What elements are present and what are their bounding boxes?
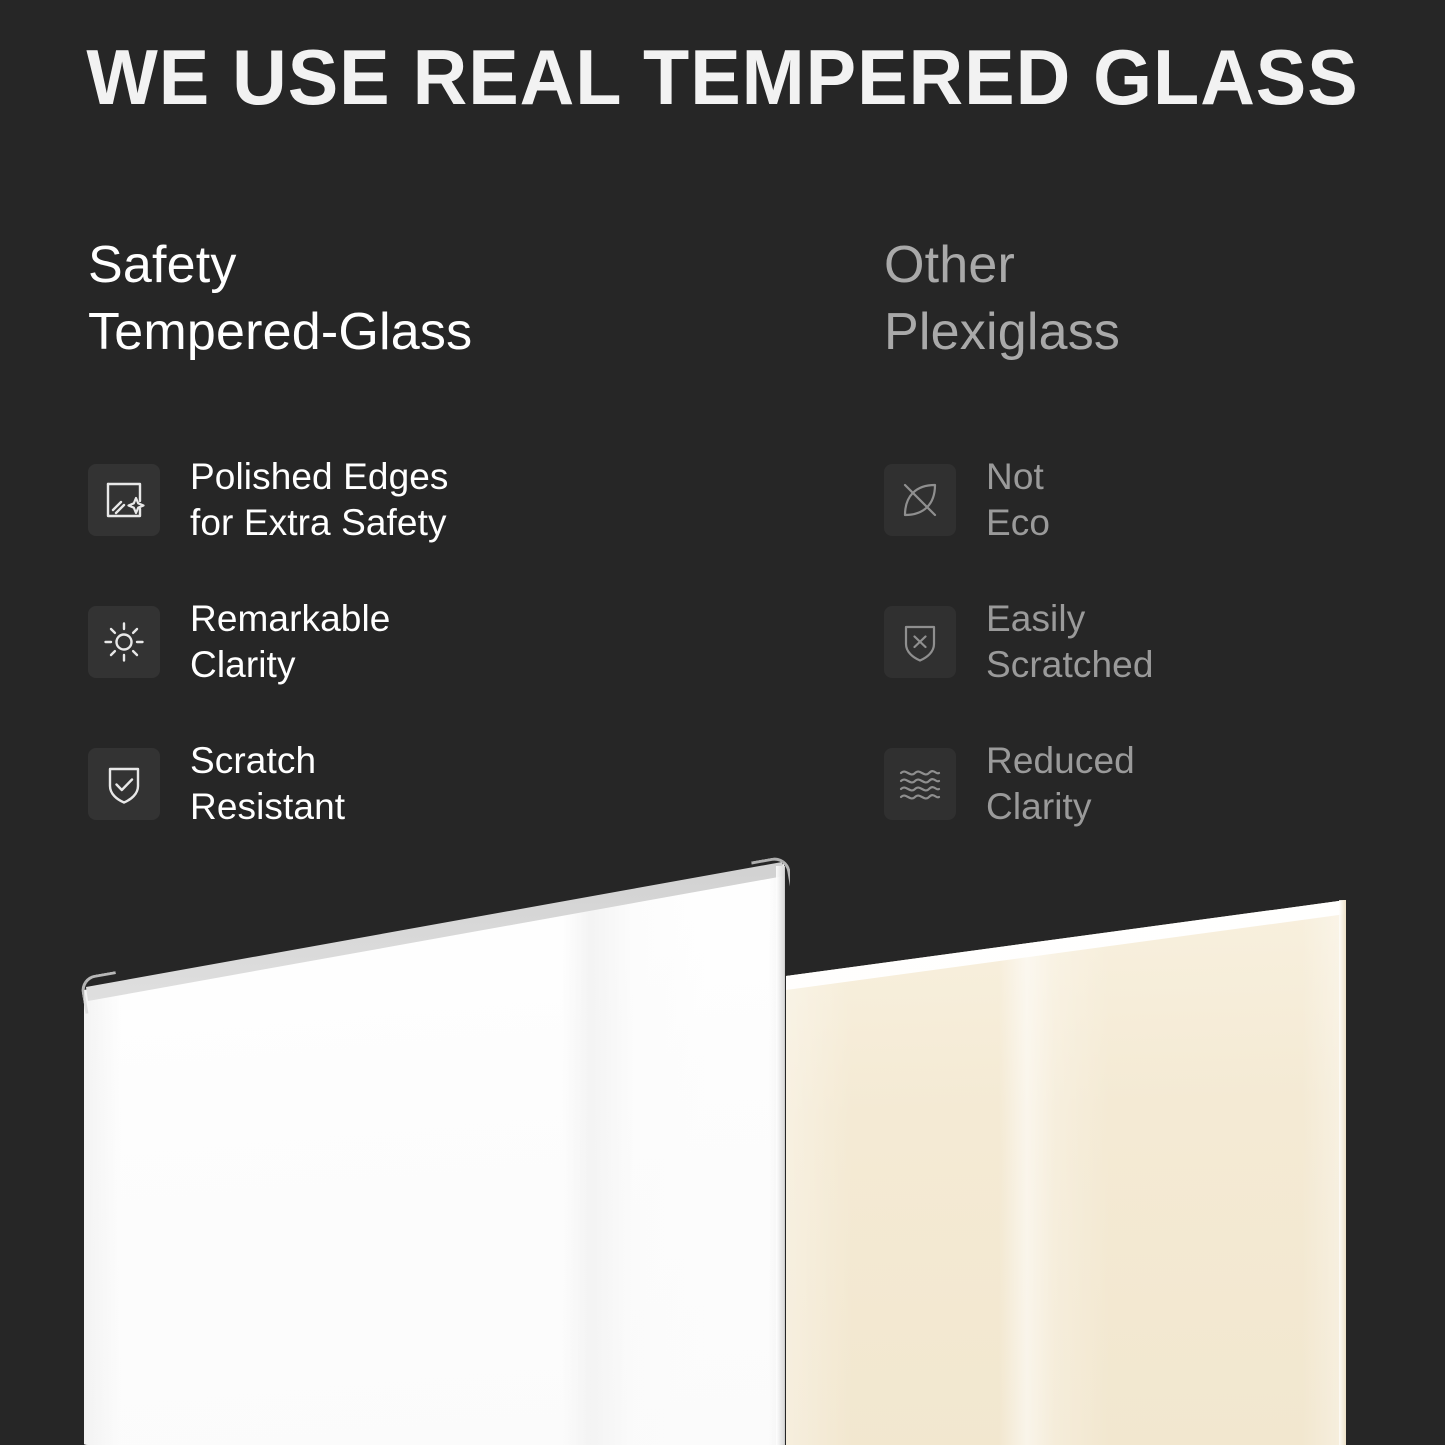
feature-list-right: Not Eco Easily Scratched: [884, 450, 1424, 834]
column-safety-tempered-glass: Safety Tempered-Glass Polished Edges for…: [88, 232, 788, 365]
leaf-crossed-out-icon: [884, 464, 956, 536]
column-title-right: Other Plexiglass: [884, 232, 1424, 365]
polished-glass-sparkle-icon: [88, 464, 160, 536]
feature-scratch-resistant: Scratch Resistant: [88, 734, 788, 834]
tempered-glass-corner-top-left: [79, 971, 122, 1014]
page-title: WE USE REAL TEMPERED GLASS: [22, 38, 1424, 116]
wavy-lines-icon: [884, 748, 956, 820]
shield-x-icon: [884, 606, 956, 678]
feature-reduced-clarity: Reduced Clarity: [884, 734, 1424, 834]
feature-label: Remarkable Clarity: [190, 596, 390, 689]
shield-check-icon: [88, 748, 160, 820]
column-other-plexiglass: Other Plexiglass Not Eco: [884, 232, 1424, 365]
tempered-glass-right-edge: [776, 866, 785, 1445]
feature-label: Polished Edges for Extra Safety: [190, 454, 449, 547]
plexiglass-panel: [786, 840, 1346, 1445]
feature-not-eco: Not Eco: [884, 450, 1424, 550]
glass-panel-comparison-image: [0, 840, 1445, 1445]
feature-label: Not Eco: [986, 454, 1050, 547]
feature-remarkable-clarity: Remarkable Clarity: [88, 592, 788, 692]
sun-icon: [88, 606, 160, 678]
feature-label: Easily Scratched: [986, 596, 1154, 689]
plexiglass-surface: [786, 840, 1346, 1445]
feature-label: Reduced Clarity: [986, 738, 1135, 831]
feature-polished-edges: Polished Edges for Extra Safety: [88, 450, 788, 550]
feature-easily-scratched: Easily Scratched: [884, 592, 1424, 692]
column-title-left: Safety Tempered-Glass: [88, 232, 788, 365]
feature-list-left: Polished Edges for Extra Safety: [88, 450, 788, 834]
feature-label: Scratch Resistant: [190, 738, 345, 831]
product-comparison-infographic: WE USE REAL TEMPERED GLASS Safety Temper…: [0, 0, 1445, 1445]
tempered-glass-panel: [78, 840, 790, 1445]
comparison-columns: Safety Tempered-Glass Polished Edges for…: [0, 232, 1445, 852]
plexiglass-right-edge: [1339, 900, 1346, 1445]
